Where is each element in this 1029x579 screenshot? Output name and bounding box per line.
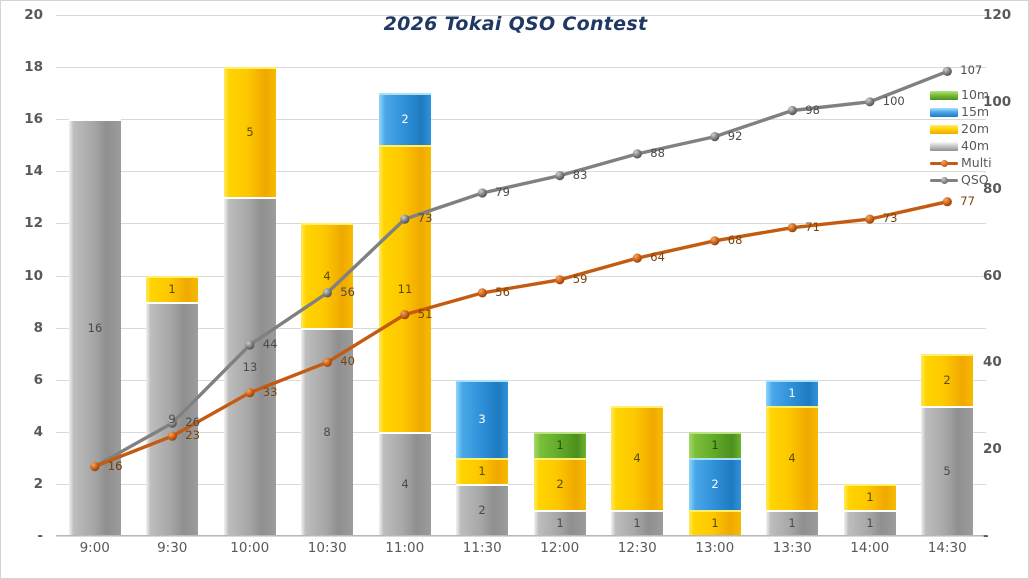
legend-label: 40m [961, 140, 989, 153]
x-axis-tick: 12:30 [599, 542, 677, 556]
legend-swatch-icon [930, 142, 958, 151]
y-axis-left-tick: 12 [1, 217, 43, 231]
bar-segment-40m[interactable]: 1 [534, 510, 586, 536]
y-axis-left-tick: 18 [1, 61, 43, 75]
gridline [56, 536, 986, 537]
line-marker-QSO[interactable] [865, 97, 874, 106]
legend-item-15m[interactable]: 15m [930, 104, 1010, 121]
legend-label: 10m [961, 89, 989, 102]
bar-segment-label: 5 [943, 466, 950, 478]
y-axis-left-tick: 20 [1, 9, 43, 23]
bar-segment-label: 2 [943, 375, 950, 387]
legend-item-QSO[interactable]: QSO [930, 172, 1010, 189]
x-axis-tick: 13:30 [754, 542, 832, 556]
bar-segment-15m[interactable]: 2 [689, 458, 741, 510]
line-marker-QSO[interactable] [555, 171, 564, 180]
line-point-label-Multi: 68 [728, 235, 743, 247]
y-axis-right-tick: 120 [983, 9, 1027, 23]
line-point-label-QSO: 88 [650, 148, 665, 160]
bar-segment-label: 1 [168, 284, 175, 296]
x-axis-tick: 9:00 [56, 542, 134, 556]
legend-label: 20m [961, 123, 989, 136]
line-marker-Multi[interactable] [788, 223, 797, 232]
bar-segment-40m[interactable]: 1 [844, 510, 896, 536]
bar-segment-40m[interactable]: 5 [921, 406, 973, 536]
gridline [56, 223, 986, 224]
legend-line-icon [930, 176, 958, 185]
bar-segment-label: 1 [556, 518, 563, 530]
bar-segment-label: 2 [478, 505, 485, 517]
line-marker-QSO[interactable] [788, 106, 797, 115]
line-point-label-Multi: 77 [960, 196, 975, 208]
line-marker-Multi[interactable] [478, 288, 487, 297]
x-axis-tick: 12:00 [521, 542, 599, 556]
x-axis-tick: 10:30 [289, 542, 367, 556]
x-axis-tick: 9:30 [134, 542, 212, 556]
bar-segment-40m[interactable]: 2 [456, 484, 508, 536]
bar-segment-label: 1 [633, 518, 640, 530]
line-point-label-QSO: 73 [418, 213, 433, 225]
bar-segment-label: 16 [88, 323, 103, 335]
bar-segment-label: 2 [711, 479, 718, 491]
x-axis-tick: 13:00 [676, 542, 754, 556]
y-axis-left-tick: - [1, 530, 43, 544]
x-axis-line [56, 535, 986, 536]
bar-segment-15m[interactable]: 3 [456, 380, 508, 458]
line-point-label-Multi: 40 [340, 356, 355, 368]
y-axis-left-tick: 6 [1, 374, 43, 388]
bar-segment-20m[interactable]: 2 [921, 354, 973, 406]
x-axis-tick: 11:30 [444, 542, 522, 556]
line-point-label-QSO: 100 [883, 96, 905, 108]
bar-segment-20m[interactable]: 5 [224, 67, 276, 197]
legend-swatch-icon [930, 125, 958, 134]
y-axis-right-tick: - [983, 530, 1027, 544]
bar-segment-40m[interactable]: 4 [379, 432, 431, 536]
bar-segment-20m[interactable]: 11 [379, 145, 431, 432]
line-point-label-Multi: 56 [495, 287, 510, 299]
y-axis-left-tick: 8 [1, 322, 43, 336]
bar-segment-40m[interactable]: 1 [766, 510, 818, 536]
line-marker-Multi[interactable] [710, 236, 719, 245]
line-point-label-Multi: 16 [108, 461, 123, 473]
bar-segment-20m[interactable]: 2 [534, 458, 586, 510]
bar-segment-label: 9 [168, 414, 175, 426]
y-axis-right-tick: 40 [983, 356, 1027, 370]
bar-segment-label: 4 [788, 453, 795, 465]
bar-segment-label: 1 [556, 440, 563, 452]
bar-segment-label: 2 [401, 114, 408, 126]
gridline [56, 119, 986, 120]
bar-segment-15m[interactable]: 1 [766, 380, 818, 406]
bar-segment-label: 1 [711, 518, 718, 530]
y-axis-right-tick: 20 [983, 443, 1027, 457]
line-point-label-Multi: 73 [883, 213, 898, 225]
bar-segment-label: 2 [556, 479, 563, 491]
chart-container: 2026 Tokai QSO Contest 16911358441122131… [0, 0, 1029, 579]
x-axis-tick: 14:30 [909, 542, 987, 556]
x-axis-tick: 14:00 [831, 542, 909, 556]
y-axis-left-tick: 10 [1, 270, 43, 284]
legend-label: QSO [961, 174, 989, 187]
gridline [56, 15, 986, 16]
line-QSO [95, 71, 948, 466]
legend-line-icon [930, 159, 958, 168]
bar-segment-15m[interactable]: 2 [379, 93, 431, 145]
x-axis-tick: 11:00 [366, 542, 444, 556]
legend-item-10m[interactable]: 10m [930, 87, 1010, 104]
bar-segment-label: 1 [788, 388, 795, 400]
legend-swatch-icon [930, 91, 958, 100]
line-Multi [95, 202, 948, 467]
line-point-label-QSO: 44 [263, 339, 278, 351]
bar-segment-label: 1 [788, 518, 795, 530]
plot-area: 1691135844112213121141211411152 16264456… [56, 15, 986, 536]
bar-segment-label: 11 [398, 284, 413, 296]
bar-segment-10m[interactable]: 1 [534, 432, 586, 458]
bar-segment-20m[interactable]: 4 [301, 223, 353, 327]
bar-segment-label: 1 [866, 492, 873, 504]
gridline [56, 67, 986, 68]
bar-segment-20m[interactable]: 1 [456, 458, 508, 484]
line-point-label-QSO: 83 [573, 170, 588, 182]
line-marker-QSO[interactable] [943, 67, 952, 76]
line-point-label-Multi: 71 [805, 222, 820, 234]
line-marker-QSO[interactable] [633, 149, 642, 158]
bar-segment-label: 3 [478, 414, 485, 426]
bar-segment-label: 1 [711, 440, 718, 452]
bar-segment-label: 4 [633, 453, 640, 465]
y-axis-right-tick: 60 [983, 270, 1027, 284]
y-axis-left-tick: 4 [1, 426, 43, 440]
line-marker-Multi[interactable] [943, 197, 952, 206]
x-axis-tick: 10:00 [211, 542, 289, 556]
bar-segment-40m[interactable]: 16 [69, 119, 121, 536]
bar-segment-20m[interactable]: 4 [611, 406, 663, 510]
bar-segment-label: 1 [478, 466, 485, 478]
bar-segment-20m[interactable]: 4 [766, 406, 818, 510]
legend-item-40m[interactable]: 40m [930, 138, 1010, 155]
chart-legend: 10m15m20m40mMultiQSO [930, 87, 1010, 189]
y-axis-left-tick: 16 [1, 113, 43, 127]
bar-segment-10m[interactable]: 1 [689, 432, 741, 458]
line-point-label-QSO: 56 [340, 287, 355, 299]
line-marker-QSO[interactable] [478, 188, 487, 197]
y-axis-left-tick: 2 [1, 478, 43, 492]
line-point-label-Multi: 64 [650, 252, 665, 264]
bar-segment-20m[interactable]: 1 [844, 484, 896, 510]
line-marker-Multi[interactable] [633, 254, 642, 263]
bar-segment-label: 8 [323, 427, 330, 439]
legend-swatch-icon [930, 108, 958, 117]
bar-segment-label: 5 [246, 127, 253, 139]
bar-segment-label: 1 [866, 518, 873, 530]
legend-label: 15m [961, 106, 989, 119]
legend-item-Multi[interactable]: Multi [930, 155, 1010, 172]
bar-segment-20m[interactable]: 1 [689, 510, 741, 536]
line-point-label-QSO: 98 [805, 105, 820, 117]
bar-segment-label: 13 [243, 362, 258, 374]
bar-segment-label: 4 [401, 479, 408, 491]
gridline [56, 171, 986, 172]
line-marker-QSO[interactable] [710, 132, 719, 141]
line-point-label-Multi: 23 [185, 430, 200, 442]
line-point-label-Multi: 33 [263, 387, 278, 399]
line-point-label-QSO: 92 [728, 131, 743, 143]
bar-segment-20m[interactable]: 1 [146, 276, 198, 302]
line-point-label-Multi: 59 [573, 274, 588, 286]
line-point-label-QSO: 107 [960, 65, 982, 77]
bar-segment-40m[interactable]: 1 [611, 510, 663, 536]
legend-item-20m[interactable]: 20m [930, 121, 1010, 138]
line-point-label-QSO: 26 [185, 417, 200, 429]
bar-segment-40m[interactable]: 13 [224, 197, 276, 536]
bar-segment-label: 4 [323, 271, 330, 283]
line-point-label-Multi: 51 [418, 309, 433, 321]
y-axis-left-tick: 14 [1, 165, 43, 179]
legend-label: Multi [961, 157, 992, 170]
line-point-label-QSO: 79 [495, 187, 510, 199]
